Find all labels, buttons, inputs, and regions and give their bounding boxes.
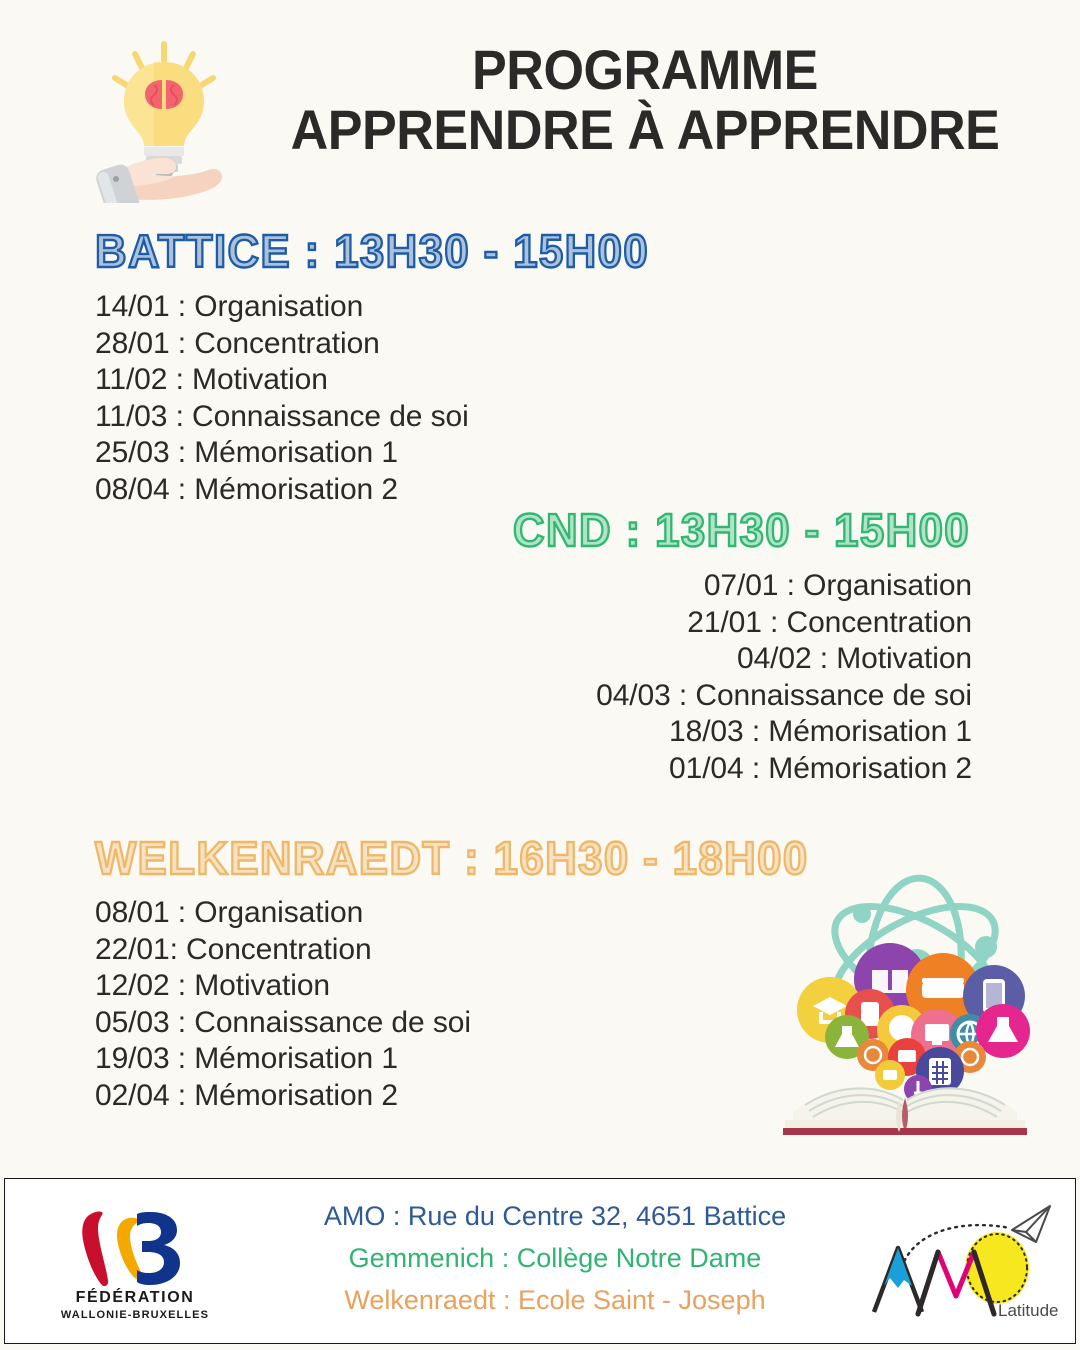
title-line-2: APPRENDRE À APPRENDRE <box>278 100 1013 160</box>
session-item: 08/04 : Mémorisation 2 <box>95 472 469 509</box>
section-heading-cnd: CND : 13H30 - 15H00 <box>513 505 970 555</box>
session-list-cnd: 07/01 : Organisation 21/01 : Concentrati… <box>452 568 972 787</box>
session-item: 04/03 : Connaissance de soi <box>452 678 972 715</box>
fwb-line1: FÉDÉRATION <box>76 1287 195 1306</box>
amo-latitude-j-logo: Latitude j <box>845 1186 1075 1336</box>
session-item: 11/03 : Connaissance de soi <box>95 399 469 436</box>
fwb-line2: WALLONIE-BRUXELLES <box>61 1309 209 1321</box>
session-item: 02/04 : Mémorisation 2 <box>95 1078 471 1115</box>
section-heading-welkenraedt: WELKENRAEDT : 16H30 - 18H00 <box>95 833 809 883</box>
session-item: 01/04 : Mémorisation 2 <box>452 751 972 788</box>
session-item: 28/01 : Concentration <box>95 326 469 363</box>
session-item: 14/01 : Organisation <box>95 289 469 326</box>
lightbulb-brain-in-hand-icon <box>82 28 247 203</box>
session-item: 05/03 : Connaissance de soi <box>95 1005 471 1042</box>
title-line-1: PROGRAMME <box>278 40 1013 100</box>
session-list-welkenraedt: 08/01 : Organisation 22/01: Concentratio… <box>95 895 471 1114</box>
open-book-with-atom-and-subject-icons <box>765 872 1050 1137</box>
page-title: PROGRAMME APPRENDRE À APPRENDRE <box>250 40 1040 160</box>
session-item: 11/02 : Motivation <box>95 362 469 399</box>
section-heading-battice: BATTICE : 13H30 - 15H00 <box>95 226 649 276</box>
footer-address-block: AMO : Rue du Centre 32, 4651 Battice Gem… <box>265 1195 845 1327</box>
session-item: 04/02 : Motivation <box>452 641 972 678</box>
federation-wallonie-bruxelles-logo: FÉDÉRATION WALLONIE-BRUXELLES <box>5 1186 265 1336</box>
poster-header: PROGRAMME APPRENDRE À APPRENDRE <box>0 0 1080 205</box>
footer-panel: FÉDÉRATION WALLONIE-BRUXELLES AMO : Rue … <box>4 1178 1076 1344</box>
address-welkenraedt: Welkenraedt : Ecole Saint - Joseph <box>265 1279 845 1321</box>
address-amo: AMO : Rue du Centre 32, 4651 Battice <box>265 1195 845 1237</box>
amo-logo-caption: Latitude j <box>998 1301 1060 1320</box>
address-gemmenich: Gemmenich : Collège Notre Dame <box>265 1237 845 1279</box>
session-item: 18/03 : Mémorisation 1 <box>452 714 972 751</box>
session-list-battice: 14/01 : Organisation 28/01 : Concentrati… <box>95 289 469 508</box>
session-item: 08/01 : Organisation <box>95 895 471 932</box>
session-item: 19/03 : Mémorisation 1 <box>95 1041 471 1078</box>
session-item: 25/03 : Mémorisation 1 <box>95 435 469 472</box>
session-item: 21/01 : Concentration <box>452 605 972 642</box>
session-item: 22/01: Concentration <box>95 932 471 969</box>
session-item: 12/02 : Motivation <box>95 968 471 1005</box>
session-item: 07/01 : Organisation <box>452 568 972 605</box>
